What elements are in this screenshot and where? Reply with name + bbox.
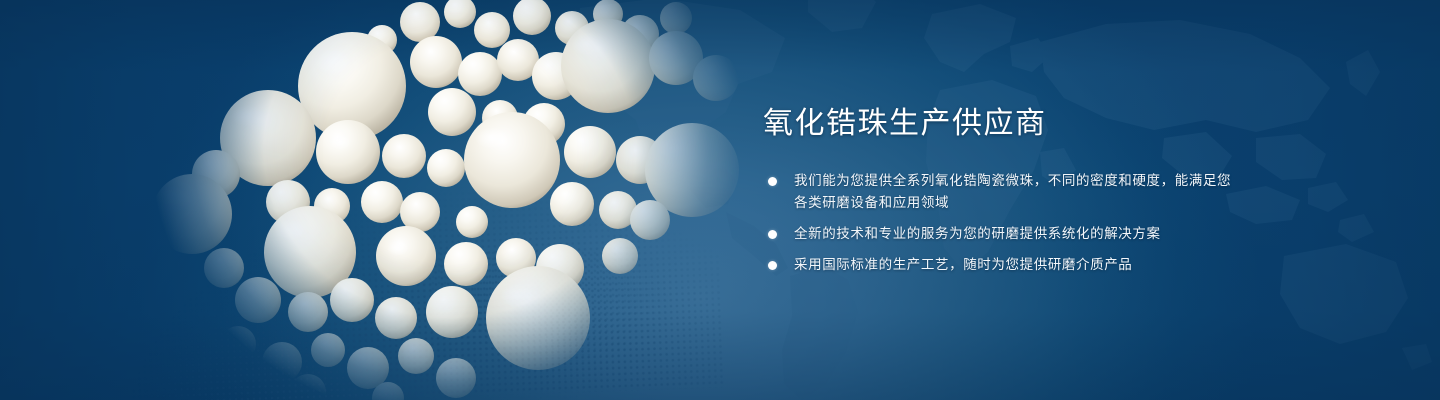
list-item: 全新的技术和专业的服务为您的研磨提供系统化的解决方案 (763, 223, 1233, 245)
hero-banner: 氧化锆珠生产供应商 我们能为您提供全系列氧化锆陶瓷微珠，不同的密度和硬度，能满足… (0, 0, 1440, 400)
list-item: 我们能为您提供全系列氧化锆陶瓷微珠，不同的密度和硬度，能满足您各类研磨设备和应用… (763, 170, 1233, 214)
bullet-dot-icon (768, 177, 777, 186)
banner-copy-block: 氧化锆珠生产供应商 我们能为您提供全系列氧化锆陶瓷微珠，不同的密度和硬度，能满足… (763, 104, 1233, 276)
list-item-label: 采用国际标准的生产工艺，随时为您提供研磨介质产品 (794, 257, 1132, 272)
feature-list: 我们能为您提供全系列氧化锆陶瓷微珠，不同的密度和硬度，能满足您各类研磨设备和应用… (763, 170, 1233, 276)
list-item-label: 我们能为您提供全系列氧化锆陶瓷微珠，不同的密度和硬度，能满足您各类研磨设备和应用… (794, 173, 1231, 210)
zirconia-beads-photo (120, 0, 740, 400)
bullet-dot-icon (768, 230, 777, 239)
page-title: 氧化锆珠生产供应商 (763, 104, 1233, 144)
bullet-dot-icon (768, 261, 777, 270)
list-item-label: 全新的技术和专业的服务为您的研磨提供系统化的解决方案 (794, 226, 1161, 241)
list-item: 采用国际标准的生产工艺，随时为您提供研磨介质产品 (763, 254, 1233, 276)
